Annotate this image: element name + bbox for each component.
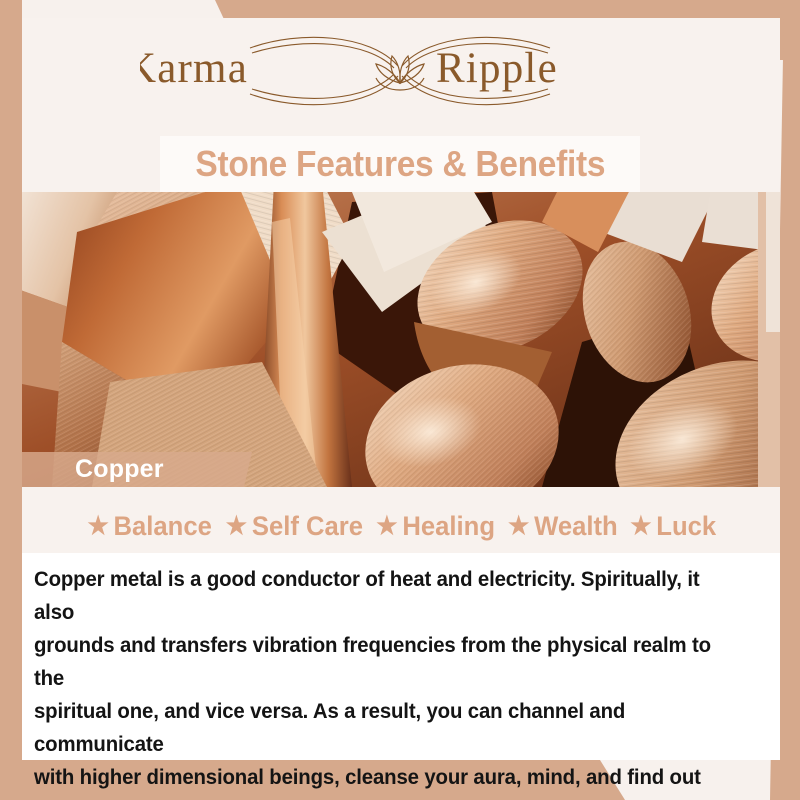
feature-label: Self Care [252, 511, 363, 542]
feature-label: Healing [403, 511, 496, 542]
feature-item-wealth: ★ Wealth [508, 511, 624, 542]
logo-word-karma: Karma [140, 45, 248, 92]
feature-label: Luck [656, 511, 716, 542]
star-icon: ★ [377, 514, 398, 539]
description-line: spiritual one, and vice versa. As a resu… [34, 695, 744, 761]
description-line: grounds and transfers vibration frequenc… [34, 629, 744, 695]
photo-label-copper: Copper [22, 452, 252, 487]
feature-list: ★ Balance ★ Self Care ★ Healing ★ Wealth… [22, 505, 780, 547]
photo-label-text: Copper [75, 455, 164, 484]
feature-label: Balance [113, 511, 211, 542]
star-icon: ★ [630, 514, 651, 539]
title-banner: Stone Features & Benefits [160, 136, 640, 192]
lotus-icon [376, 56, 424, 90]
feature-item-luck: ★ Luck [630, 511, 716, 542]
description-block: Copper metal is a good conductor of heat… [22, 553, 780, 760]
page-title: Stone Features & Benefits [195, 143, 605, 185]
feature-item-healing: ★ Healing [377, 511, 502, 542]
star-icon: ★ [87, 514, 108, 539]
brand-logo: Karma Ripple [0, 26, 800, 116]
feature-label: Wealth [534, 511, 618, 542]
star-icon: ★ [508, 514, 529, 539]
feature-item-self-care: ★ Self Care [226, 511, 370, 542]
description-line: with higher dimensional beings, cleanse … [34, 761, 744, 800]
star-icon: ★ [226, 514, 247, 539]
logo-word-ripple: Ripple [436, 45, 558, 92]
description-line: Copper metal is a good conductor of heat… [34, 563, 744, 629]
copper-photo [22, 192, 780, 487]
frame-plate-left [0, 0, 22, 800]
feature-item-balance: ★ Balance [87, 511, 218, 542]
infographic-card: Karma Ripple Stone Features & Benefits [0, 0, 800, 800]
